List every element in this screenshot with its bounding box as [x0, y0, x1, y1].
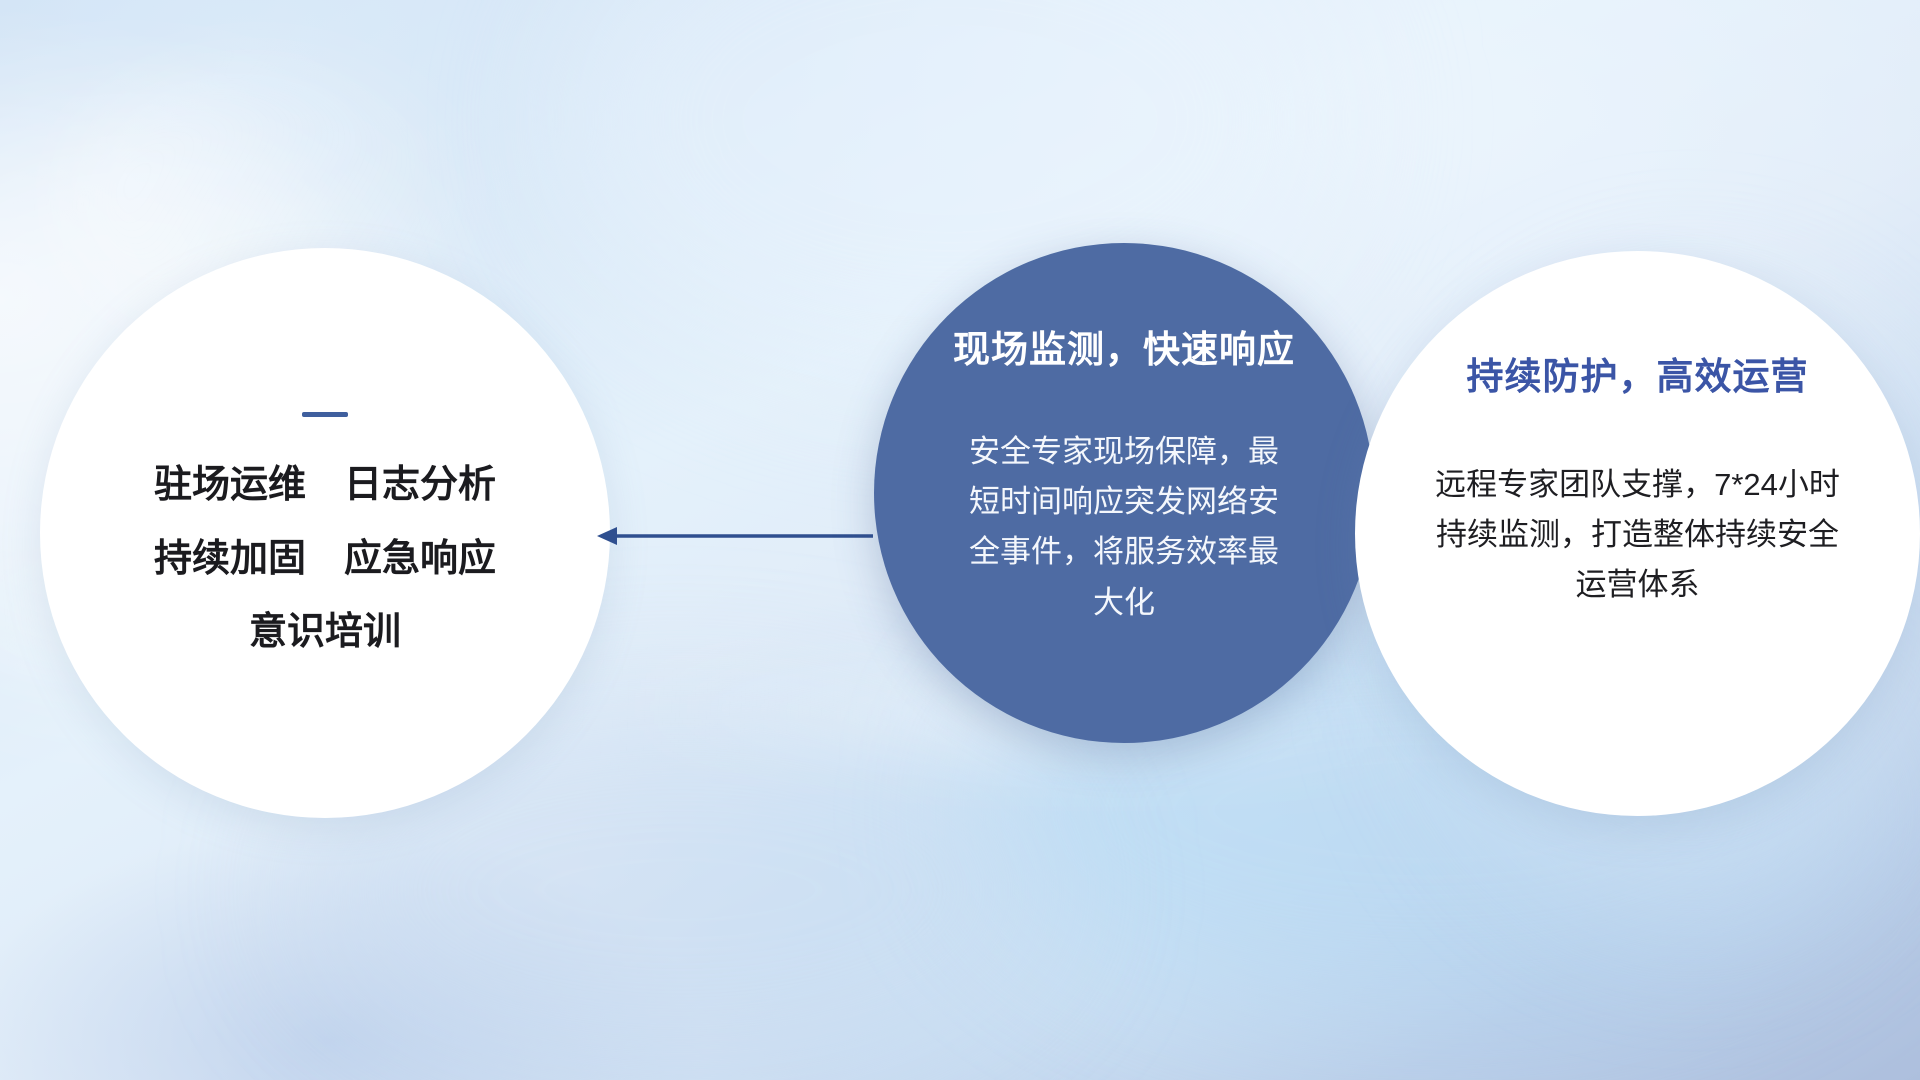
onsite-monitoring-circle: 现场监测，快速响应 安全专家现场保障，最短时间响应突发网络安全事件，将服务效率最…	[874, 243, 1374, 743]
capability-item: 驻场运维	[154, 465, 306, 507]
capability-row: 意识培训	[154, 612, 496, 654]
circle-body-text: 远程专家团队支撑，7*24小时持续监测，打造整体持续安全运营体系	[1423, 460, 1853, 611]
capability-item: 意识培训	[249, 612, 401, 654]
left-capability-circle: 驻场运维 日志分析 持续加固 应急响应 意识培训	[40, 248, 610, 818]
slide-canvas: 驻场运维 日志分析 持续加固 应急响应 意识培训 现场监测，快速响应 安全专家现…	[0, 0, 1920, 1080]
capability-item: 应急响应	[344, 539, 496, 581]
continuous-protection-circle: 持续防护，高效运营 远程专家团队支撑，7*24小时持续监测，打造整体持续安全运营…	[1355, 251, 1920, 816]
circle-body-text: 安全专家现场保障，最短时间响应突发网络安全事件，将服务效率最大化	[959, 427, 1289, 628]
capability-row: 驻场运维 日志分析	[154, 465, 496, 507]
capability-item: 持续加固	[154, 539, 306, 581]
circle-title: 现场监测，快速响应	[953, 319, 1295, 373]
capability-item: 日志分析	[344, 465, 496, 507]
capability-list: 驻场运维 日志分析 持续加固 应急响应 意识培训	[154, 465, 496, 654]
leftward-arrow-icon	[595, 516, 875, 556]
divider-dash	[302, 412, 348, 417]
capability-row: 持续加固 应急响应	[154, 539, 496, 581]
circle-title: 持续防护，高效运营	[1467, 346, 1809, 400]
